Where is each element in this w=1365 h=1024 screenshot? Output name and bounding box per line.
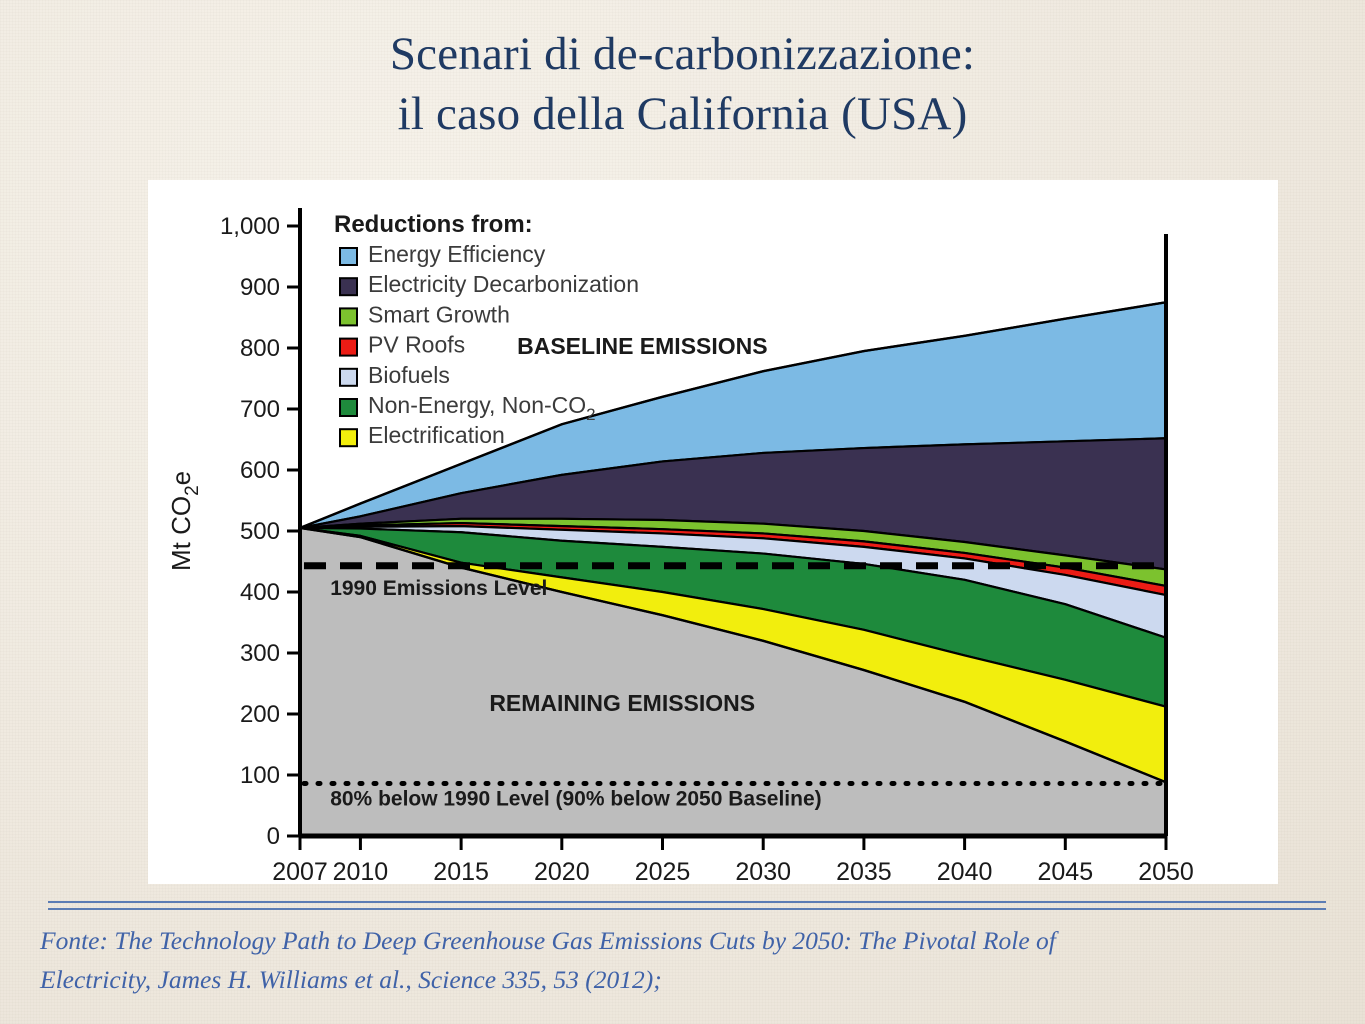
x-tick-label-7: 2040	[937, 858, 993, 884]
legend-swatch-2	[340, 308, 357, 325]
divider-line-bottom	[48, 908, 1326, 910]
divider-line-top	[48, 901, 1326, 903]
y-tick-label-6: 600	[240, 457, 280, 484]
x-tick-label-6: 2035	[836, 858, 892, 884]
y-tick-label-8: 800	[240, 335, 280, 362]
chart-legend: Reductions from:Energy EfficiencyElectri…	[334, 211, 639, 448]
legend-label-2: Smart Growth	[368, 301, 510, 327]
source-note: Fonte: The Technology Path to Deep Green…	[40, 922, 1325, 1000]
x-tick-label-3: 2020	[534, 858, 590, 884]
y-tick-label-9: 900	[240, 274, 280, 301]
y-tick-label-7: 700	[240, 396, 280, 423]
x-tick-label-9: 2050	[1138, 858, 1194, 884]
legend-label-1: Electricity Decarbonization	[368, 271, 639, 297]
reference-line-label-1: 80% below 1990 Level (90% below 2050 Bas…	[330, 788, 821, 811]
y-tick-label-5: 500	[240, 518, 280, 545]
footer-divider	[48, 901, 1326, 912]
legend-label-6: Electrification	[368, 422, 505, 448]
chart-panel: 1990 Emissions Level80% below 1990 Level…	[148, 180, 1278, 884]
legend-swatch-3	[340, 339, 357, 356]
legend-swatch-0	[340, 248, 357, 265]
y-axis-title: Mt CO2e	[166, 471, 203, 571]
x-tick-label-5: 2030	[735, 858, 791, 884]
x-tick-label-1: 2010	[333, 858, 389, 884]
legend-label-5: Non-Energy, Non-CO2	[368, 392, 596, 424]
remaining-emissions-label: REMAINING EMISSIONS	[489, 690, 755, 716]
legend-label-3: PV Roofs	[368, 332, 465, 358]
source-note-line-1: Fonte: The Technology Path to Deep Green…	[40, 922, 1325, 961]
legend-swatch-4	[340, 369, 357, 386]
emissions-wedge-chart: 1990 Emissions Level80% below 1990 Level…	[148, 180, 1278, 884]
source-note-line-2: Electricity, James H. Williams et al., S…	[40, 961, 1325, 1000]
x-tick-label-0: 2007	[272, 858, 328, 884]
y-tick-label-1: 100	[240, 762, 280, 789]
y-tick-label-2: 200	[240, 701, 280, 728]
x-tick-label-8: 2045	[1037, 858, 1093, 884]
y-tick-label-0: 0	[267, 823, 280, 850]
page-title: Scenari di de-carbonizzazione: il caso d…	[0, 24, 1365, 144]
x-tick-label-4: 2025	[635, 858, 691, 884]
legend-title: Reductions from:	[334, 211, 533, 238]
legend-swatch-5	[340, 399, 357, 416]
y-tick-label-10: 1,000	[220, 213, 280, 240]
y-tick-label-3: 300	[240, 640, 280, 667]
legend-label-0: Energy Efficiency	[368, 241, 546, 267]
y-tick-label-4: 400	[240, 579, 280, 606]
page-title-line-2: il caso della California (USA)	[0, 84, 1365, 144]
reference-line-label-0: 1990 Emissions Level	[330, 577, 547, 600]
legend-swatch-1	[340, 278, 357, 295]
legend-label-4: Biofuels	[368, 362, 450, 388]
legend-swatch-6	[340, 429, 357, 446]
page-title-line-1: Scenari di de-carbonizzazione:	[0, 24, 1365, 84]
baseline-emissions-label: BASELINE EMISSIONS	[517, 333, 767, 359]
x-tick-label-2: 2015	[433, 858, 489, 884]
